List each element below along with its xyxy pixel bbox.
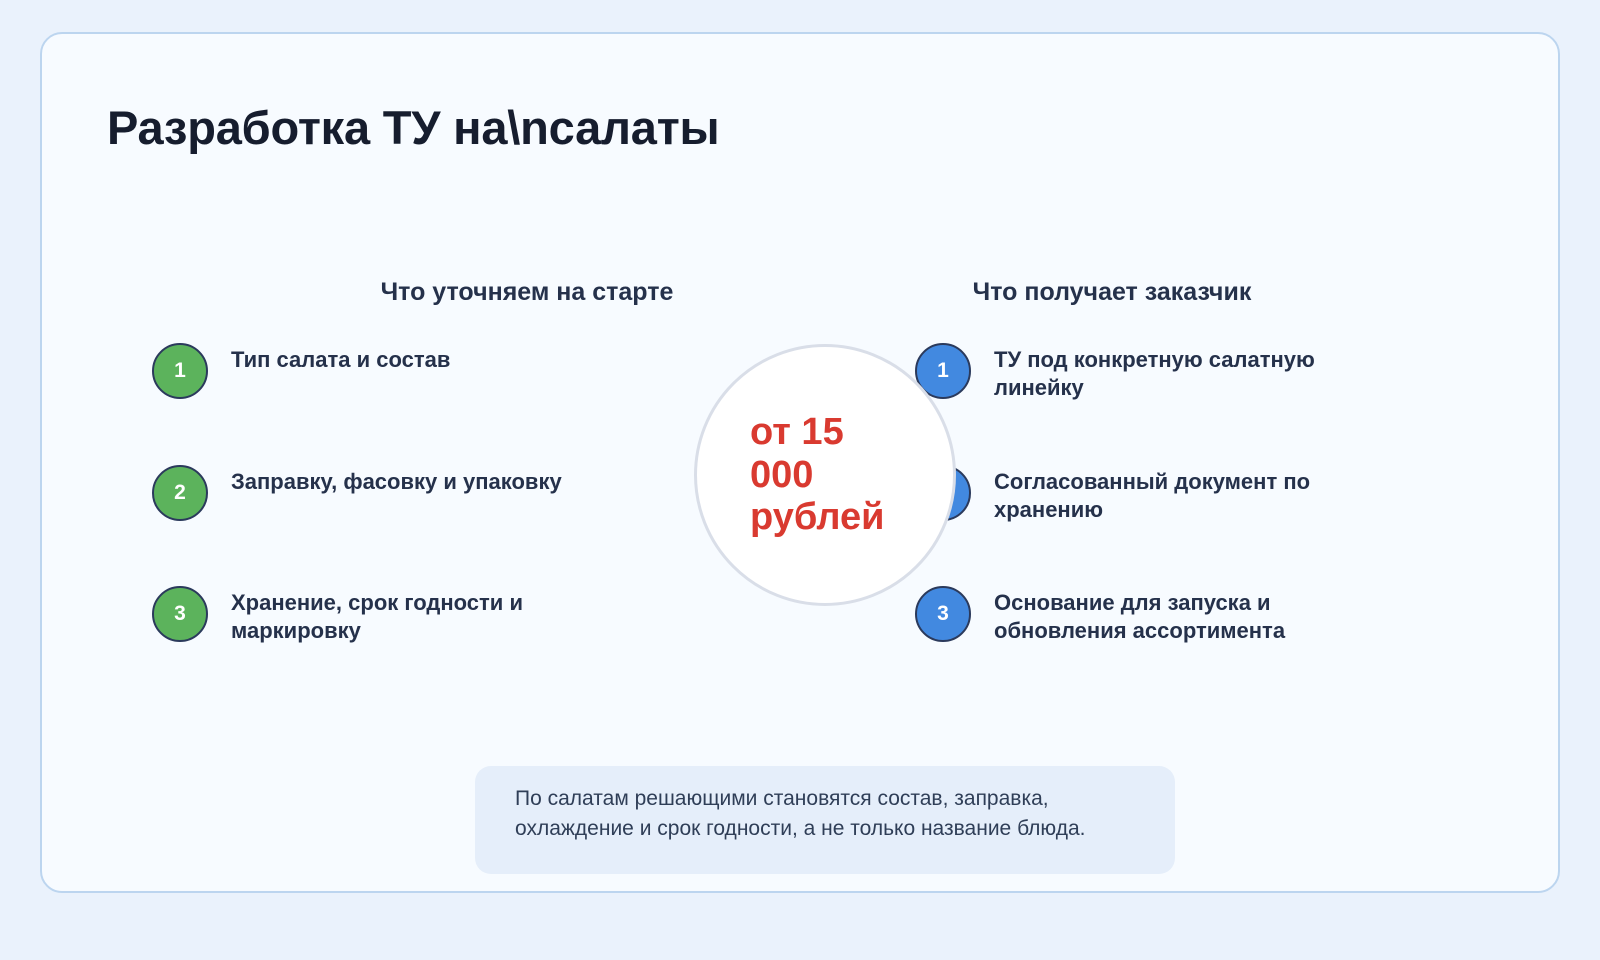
price-circle: от 15 000 рублей (694, 344, 956, 606)
note-box: По салатам решающими становятся состав, … (475, 766, 1175, 874)
result-badge-3: 3 (915, 586, 971, 642)
list-item-label: Основание для запуска и обновления ассор… (994, 582, 1375, 645)
right-column-heading: Что получает заказчик (912, 278, 1312, 307)
list-item: 1 ТУ под конкретную салатную линейку (915, 339, 1375, 402)
list-item: 3 Хранение, срок годности и маркировку (152, 582, 572, 645)
list-item: 2 Согласованный документ по хранению (915, 461, 1375, 524)
step-badge-3: 3 (152, 586, 208, 642)
note-text: По салатам решающими становятся состав, … (515, 784, 1139, 845)
list-item-label: Заправку, фасовку и упаковку (231, 461, 562, 496)
list-item-label: Согласованный документ по хранению (994, 461, 1375, 524)
list-item-label: Тип салата и состав (231, 339, 450, 374)
list-item: 1 Тип салата и состав (152, 339, 572, 399)
step-badge-1: 1 (152, 343, 208, 399)
list-item-label: ТУ под конкретную салатную линейку (994, 339, 1375, 402)
list-item-label: Хранение, срок годности и маркировку (231, 582, 572, 645)
list-item: 3 Основание для запуска и обновления асс… (915, 582, 1375, 645)
page-title: Разработка ТУ на\nсалаты (107, 100, 719, 155)
list-item: 2 Заправку, фасовку и упаковку (152, 461, 572, 521)
price-label: от 15 000 рублей (750, 411, 910, 540)
step-badge-2: 2 (152, 465, 208, 521)
left-column-heading: Что уточняем на старте (327, 278, 727, 307)
slide-card: Разработка ТУ на\nсалаты Что уточняем на… (40, 32, 1560, 893)
